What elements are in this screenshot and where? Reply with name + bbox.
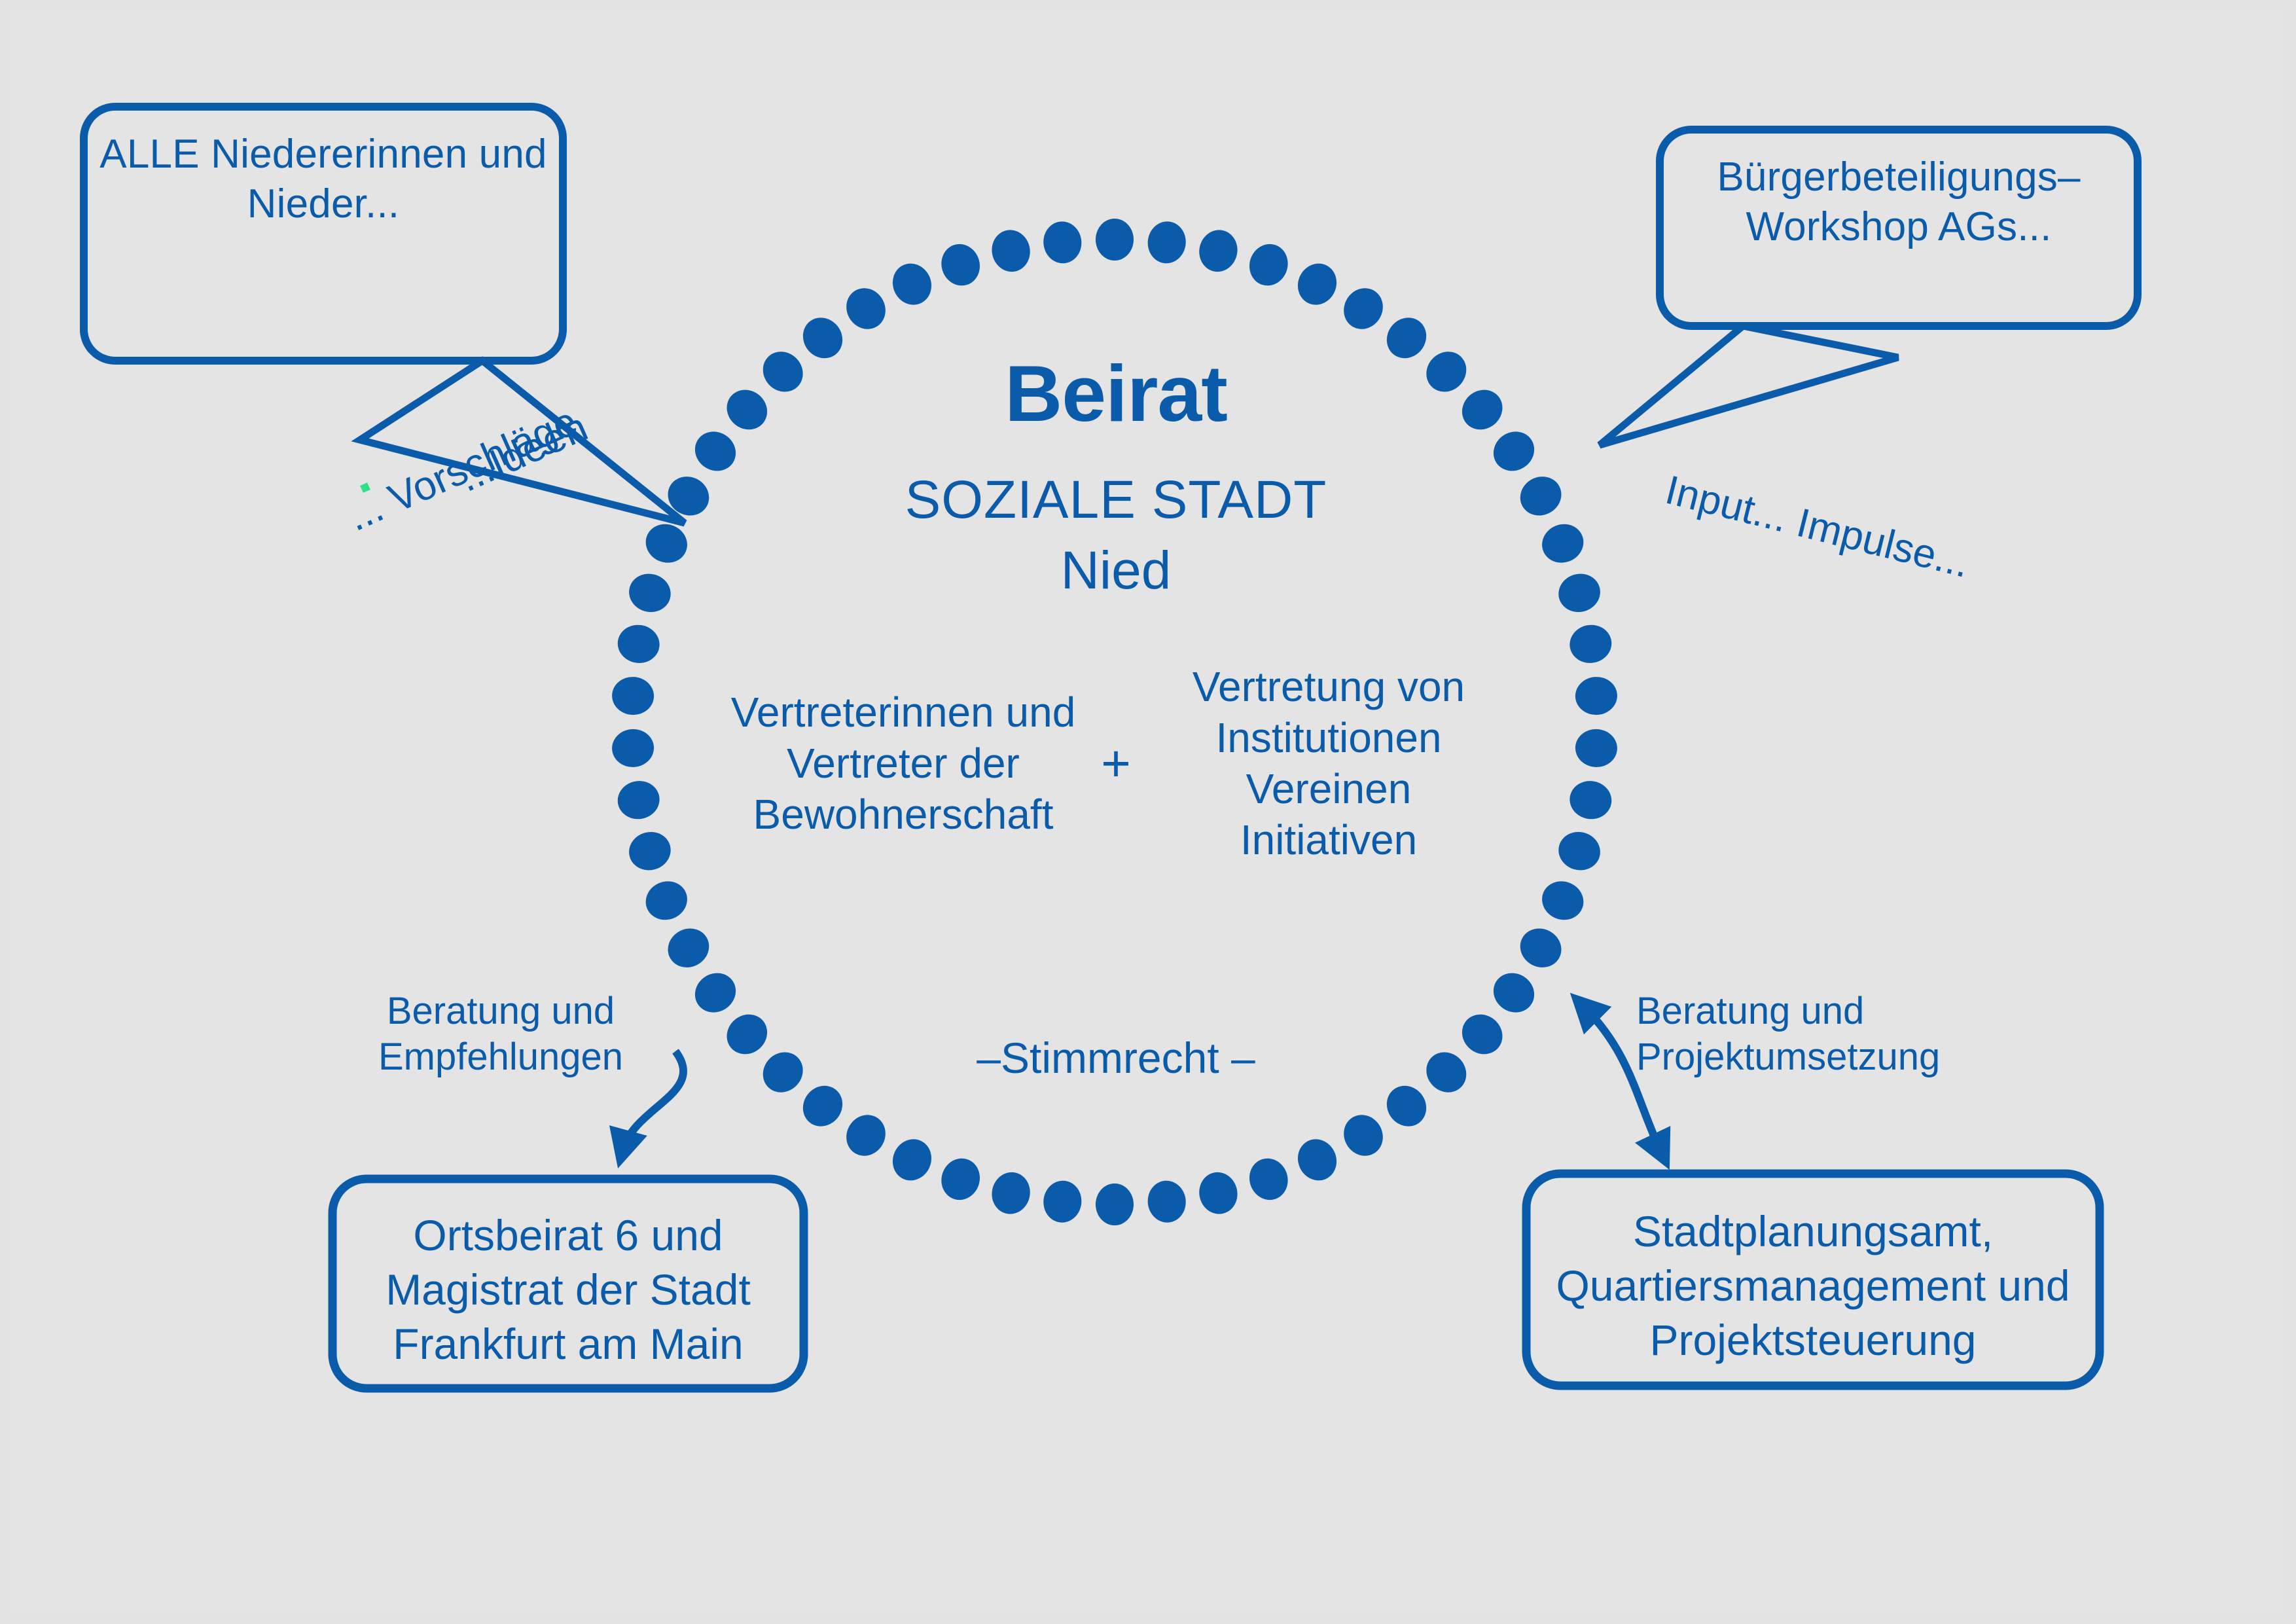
- ring-dot: [988, 226, 1033, 276]
- ring-dot: [886, 257, 938, 311]
- ring-dot: [1567, 778, 1615, 822]
- ring-dot: [1336, 1108, 1391, 1163]
- ring-dot: [839, 1108, 893, 1163]
- bubble-text-buergerbeteiligung: Bürgerbeteiligungs– Workshop AGs...: [1673, 153, 2125, 251]
- ring-dot: [1291, 257, 1343, 311]
- ring-dot: [661, 922, 716, 975]
- diagram-canvas: ALLE Niedererinnen und Nieder... Bürgerb…: [0, 0, 2296, 1624]
- ring-dot: [1486, 965, 1542, 1020]
- ring-dot: [1574, 676, 1618, 715]
- ring-dot: [640, 875, 693, 926]
- ring-dot: [988, 1168, 1033, 1218]
- ring-dot: [1291, 1133, 1343, 1187]
- ring-dot: [795, 1078, 851, 1134]
- ring-dot: [1336, 281, 1391, 336]
- center-subtitle-line2: Nied: [720, 541, 1512, 601]
- center-title: Beirat: [720, 353, 1512, 433]
- center-left-column: Vertreterinnen und Vertreter der Bewohne…: [726, 687, 1080, 840]
- ring-dot: [1554, 827, 1605, 875]
- ring-dot: [1536, 518, 1589, 569]
- ring-dot: [624, 569, 675, 617]
- bubble-text-alle: ALLE Niedererinnen und Nieder...: [97, 130, 550, 228]
- ring-dot: [640, 518, 693, 569]
- ring-dot: [1244, 1153, 1293, 1205]
- ring-dot: [1096, 219, 1134, 261]
- center-columns: Vertreterinnen und Vertreter der Bewohne…: [681, 661, 1551, 865]
- ring-dot: [839, 281, 893, 336]
- box-text-ortsbeirat: Ortsbeirat 6 und Magistrat der Stadt Fra…: [346, 1208, 791, 1371]
- ring-dot: [1574, 728, 1618, 768]
- ring-dot: [1244, 239, 1293, 291]
- ring-dot: [936, 1153, 985, 1205]
- ring-dot: [1195, 226, 1241, 276]
- ring-dot: [1041, 1179, 1084, 1225]
- ring-dot: [1145, 219, 1188, 265]
- ring-dot: [1379, 1078, 1435, 1134]
- ring-dot: [624, 827, 675, 875]
- box-text-stadtplanungsamt: Stadtplanungsamt, Quartiersmanagement un…: [1535, 1204, 2090, 1367]
- ring-dot: [1567, 622, 1615, 666]
- ring-dot: [687, 965, 744, 1020]
- center-plus-operator: +: [1080, 738, 1152, 789]
- ring-dot: [611, 676, 655, 715]
- ring-dot: [615, 622, 662, 666]
- center-subtitle-line1: SOZIALE STADT: [720, 470, 1512, 530]
- ring-dot: [936, 239, 985, 291]
- ring-dot: [1536, 875, 1589, 926]
- ring-dot: [1096, 1183, 1134, 1225]
- annotation-beratung-projektumsetzung: Beratung und Projektumsetzung: [1636, 988, 1977, 1079]
- center-right-column: Vertretung von Institutionen Vereinen In…: [1152, 661, 1505, 865]
- ring-dot: [1195, 1168, 1241, 1218]
- ring-dot: [1513, 922, 1568, 975]
- ring-dot: [615, 778, 662, 822]
- ring-dot: [1041, 219, 1084, 265]
- annotation-beratung-empfehlungen: Beratung und Empfehlungen: [367, 988, 635, 1079]
- ring-dot: [1554, 569, 1605, 617]
- ring-dot: [886, 1133, 938, 1187]
- ring-dot: [1145, 1179, 1188, 1225]
- ring-dot: [1513, 469, 1568, 522]
- center-footer-stimmrecht: –Stimmrecht –: [720, 1033, 1512, 1083]
- ring-dot: [611, 728, 655, 768]
